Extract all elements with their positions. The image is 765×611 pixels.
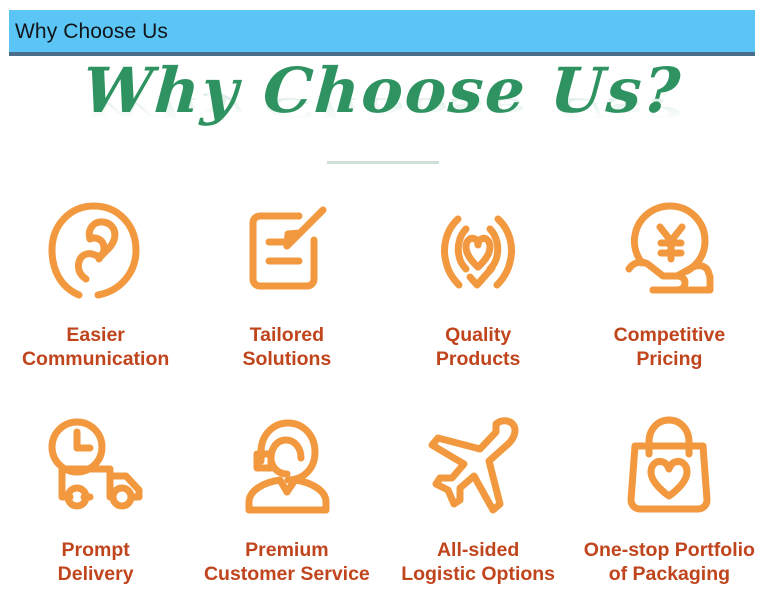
page-title: Why Choose Us [9,21,168,42]
feature-item-tailored-solutions[interactable]: Tailored Solutions [191,196,382,411]
truck-clock-icon [44,411,148,521]
feature-label: Premium Customer Service [204,539,370,587]
ear-in-circle-icon [46,196,146,306]
feature-label: One-stop Portfolio of Packaging [584,539,755,587]
hero-section: Why Choose Us? Why Choose Us? [0,58,765,178]
feature-grid: Easier Communication Tailored Solutions [0,196,765,611]
airplane-icon [426,411,530,521]
hero-title-wrap: Why Choose Us? Why Choose Us? [0,58,765,186]
hero-divider [327,161,439,164]
hero-heading-reflection: Why Choose Us? [0,94,765,121]
hand-holding-yen-coin-icon [619,196,719,306]
feature-label: Quality Products [436,324,521,372]
feature-item-competitive-pricing[interactable]: Competitive Pricing [574,196,765,411]
feature-item-premium-customer-service[interactable]: Premium Customer Service [191,411,382,611]
app-window: Why Choose Us Why Choose Us? Why Choose … [0,0,765,599]
feature-item-quality-products[interactable]: Quality Products [383,196,574,411]
feature-item-all-sided-logistic-options[interactable]: All-sided Logistic Options [383,411,574,611]
feature-label: All-sided Logistic Options [401,539,555,587]
window-title-bar: Why Choose Us [9,10,755,52]
feature-label: Easier Communication [22,324,169,372]
feature-item-prompt-delivery[interactable]: Prompt Delivery [0,411,191,611]
feature-item-easier-communication[interactable]: Easier Communication [0,196,191,411]
headset-person-icon [235,411,339,521]
feature-label: Tailored Solutions [242,324,331,372]
feature-label: Prompt Delivery [58,539,134,587]
shopping-bag-heart-icon [617,411,721,521]
document-pencil-icon [237,196,337,306]
heart-signal-check-icon [428,196,528,306]
feature-label: Competitive Pricing [614,324,726,372]
feature-item-one-stop-portfolio-of-packaging[interactable]: One-stop Portfolio of Packaging [574,411,765,611]
